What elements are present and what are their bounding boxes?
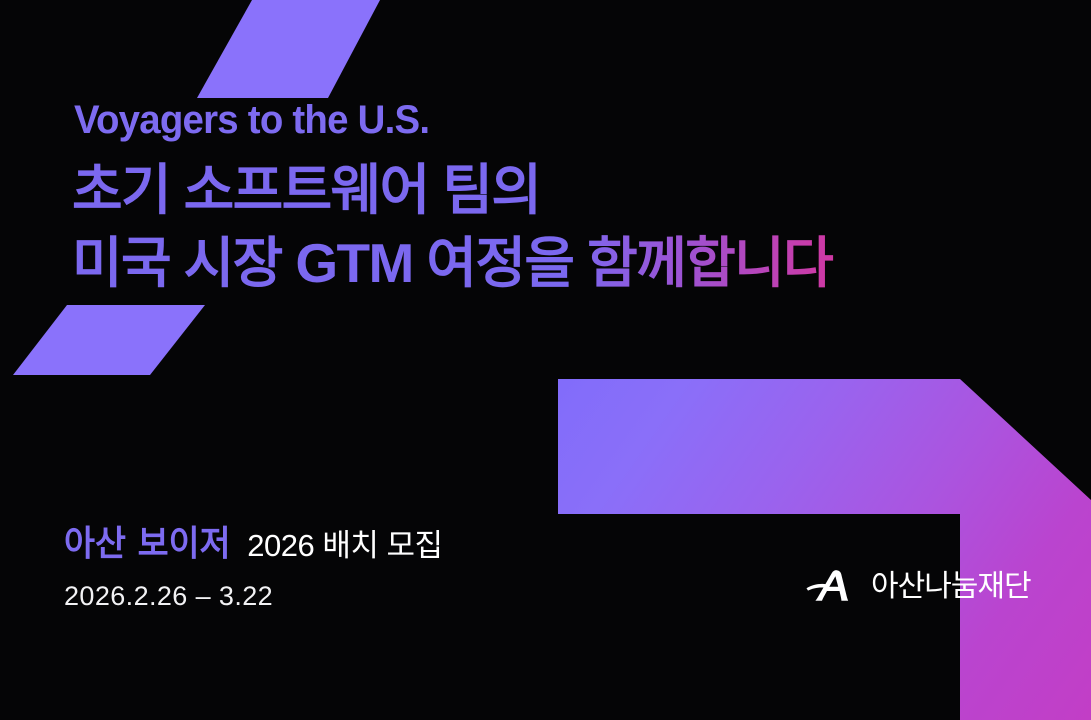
program-info-line: 아산 보이저 2026 배치 모집 [64,528,443,561]
headline-kicker: Voyagers to the U.S. [74,100,994,140]
headline-block: Voyagers to the U.S. 초기 소프트웨어 팀의 미국 시장 G… [72,100,1032,300]
foundation-name: 아산나눔재단 [871,572,1031,602]
program-info-block: 아산 보이저 2026 배치 모집 2026.2.26 – 3.22 [64,528,443,610]
poster-canvas: Voyagers to the U.S. 초기 소프트웨어 팀의 미국 시장 G… [0,0,1091,720]
asan-a-mark-icon [806,568,858,606]
top-parallelogram-decor [0,0,400,110]
foundation-logo: 아산나눔재단 [806,568,1031,606]
headline-line-2: 미국 시장 GTM 여정을 함께합니다 [72,227,1032,300]
cohort-label: 2026 배치 모집 [247,530,442,561]
program-wordmark: 아산 보이저 [64,526,231,561]
headline-line-1: 초기 소프트웨어 팀의 [72,154,1032,227]
left-parallelogram-decor [0,290,230,390]
corner-arrow-decor [520,360,1091,720]
application-date-range: 2026.2.26 – 3.22 [64,583,443,610]
